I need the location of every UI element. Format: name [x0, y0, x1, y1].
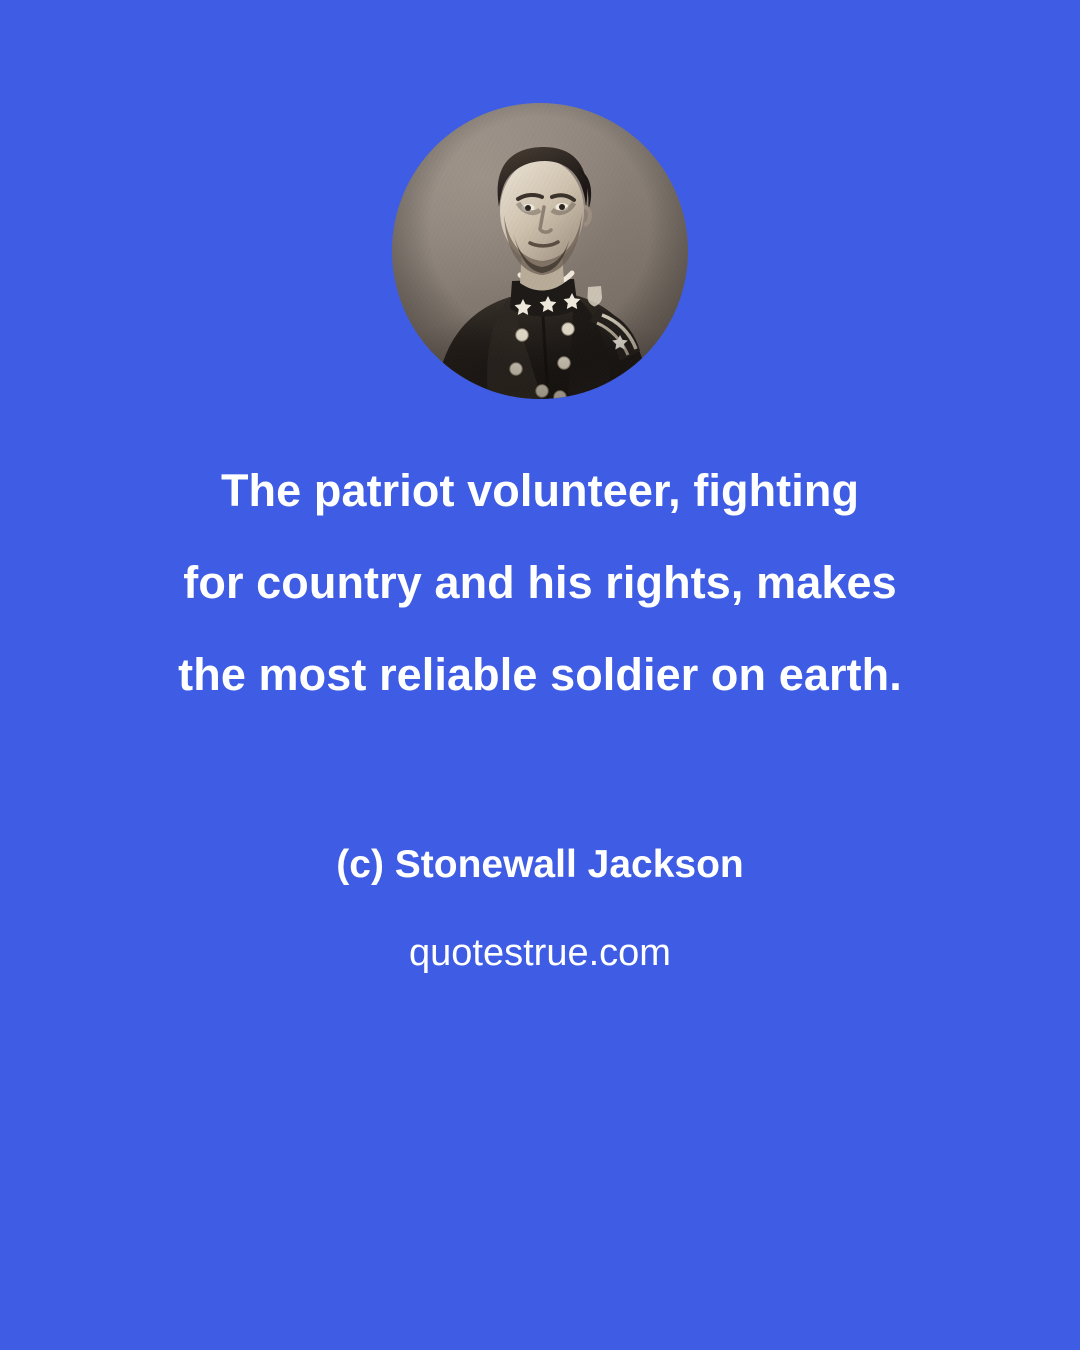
site-watermark: quotestrue.com	[0, 928, 1080, 978]
quote-card: The patriot volunteer, fighting for coun…	[0, 0, 1080, 1350]
quote-text: The patriot volunteer, fighting for coun…	[0, 445, 1080, 721]
quote-line-1: The patriot volunteer, fighting	[0, 445, 1080, 537]
quote-attribution: (c) Stonewall Jackson	[0, 840, 1080, 890]
portrait-figure-icon	[392, 103, 688, 399]
portrait-avatar	[392, 103, 688, 399]
quote-line-3: the most reliable soldier on earth.	[0, 629, 1080, 721]
quote-line-2: for country and his rights, makes	[0, 537, 1080, 629]
